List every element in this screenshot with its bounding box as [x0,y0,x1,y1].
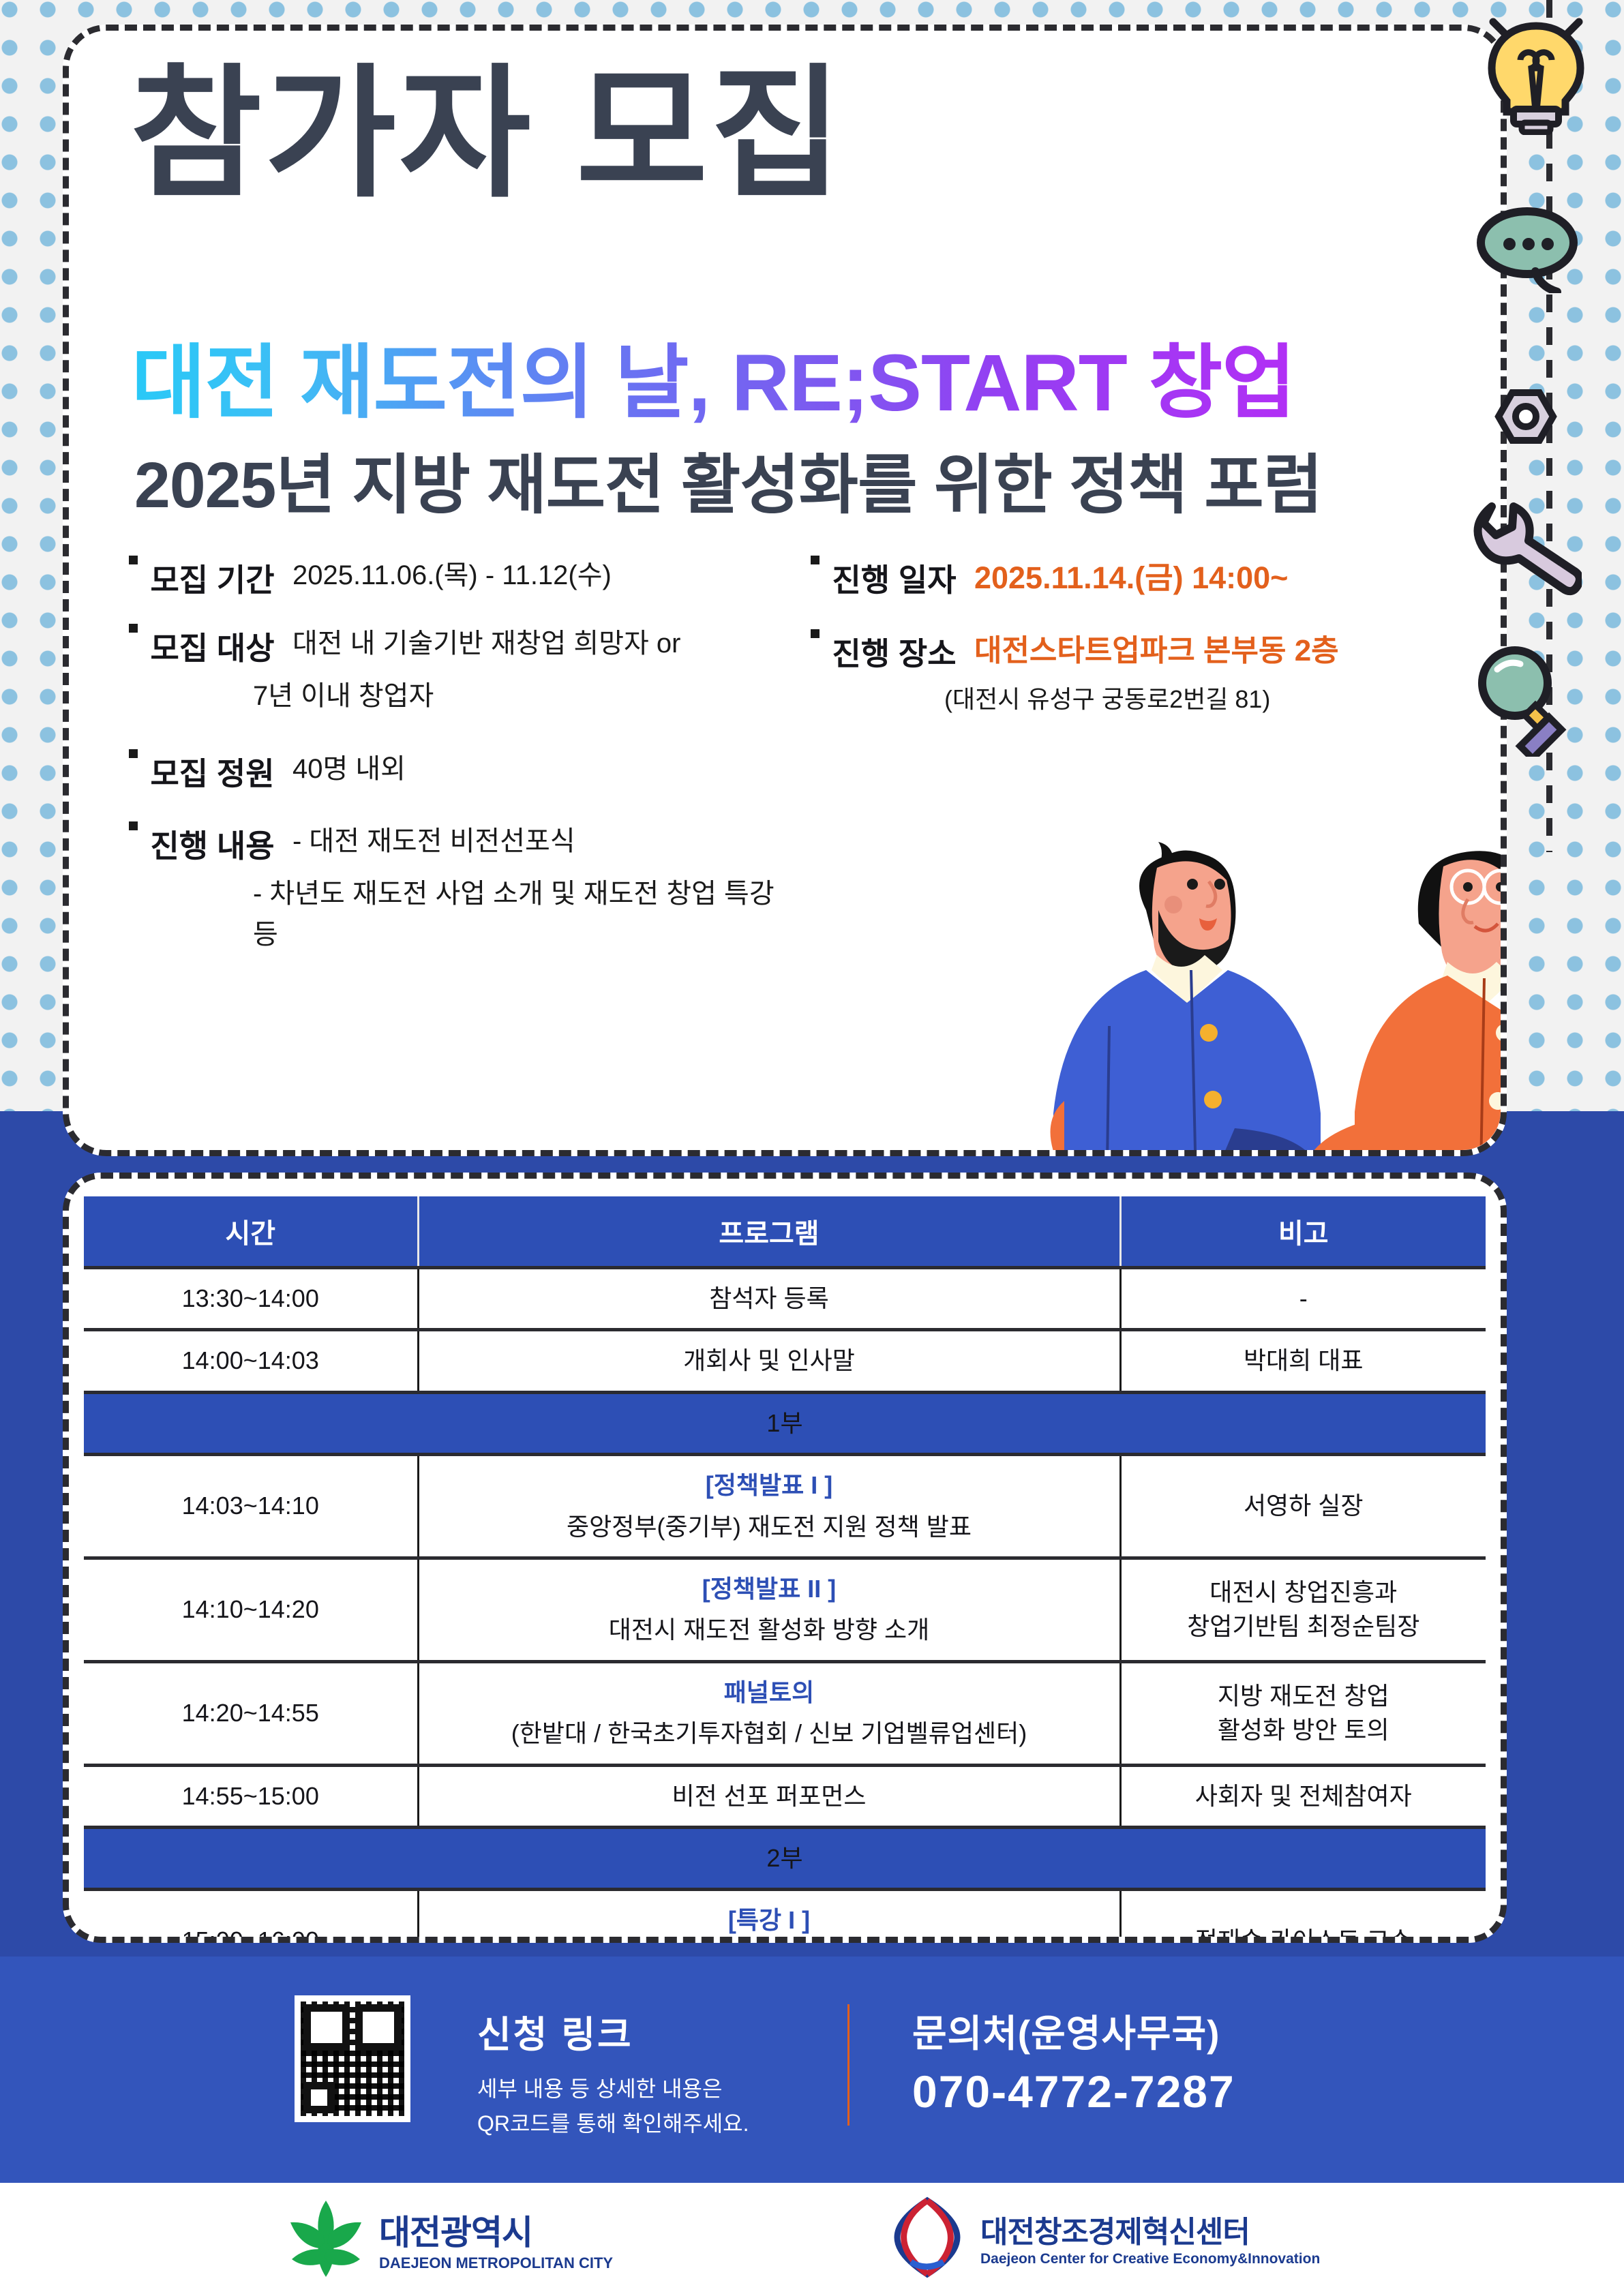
cell-program: 비전 선포 퍼포먼스 [418,1765,1120,1827]
footer-band [0,1958,1624,2183]
cell-note: 서영하 실장 [1120,1455,1486,1558]
hex-nut-icon [1494,389,1557,448]
info-row-recruit-target: 모집 대상 대전 내 기술기반 재창업 희망자 or [129,624,797,669]
logo2-en: Daejeon Center for Creative Economy&Inno… [980,2251,1320,2267]
cell-note: 사회자 및 전체참여자 [1120,1765,1486,1827]
info-label: 모집 기간 [150,556,274,601]
program-desc: 대전시 재도전 활성화 방향 소개 [426,1613,1113,1647]
daejeon-city-logo: 대전광역시 DAEJEON METROPOLITAN CITY [285,2198,613,2280]
illustration-man [1051,842,1323,1150]
bullet-icon [129,749,138,758]
cell-note: 대전시 창업진흥과창업기반팀 최정순팀장 [1120,1558,1486,1661]
logo1-kr: 대전광역시 [379,2205,613,2254]
schedule-table: 시간 프로그램 비고 13:30~14:00참석자 등록-14:00~14:03… [84,1196,1486,1943]
program-desc: 참석자 등록 [426,1282,1113,1316]
cell-time: 14:10~14:20 [84,1558,418,1661]
program-tag: [특강 I ] [426,1903,1113,1937]
cell-note: 정재승 카이스트 교수 [1120,1890,1486,1943]
info-value: 대전스타트업파크 본부동 2층 [974,629,1339,673]
program-desc: (한밭대 / 한국초기투자협회 / 신보 기업벨류업센터) [426,1717,1113,1751]
qr-code-icon[interactable] [295,1995,410,2122]
cell-note: 지방 재도전 창업활성화 방안 토의 [1120,1661,1486,1765]
info-row-program-content: 진행 내용 - 대전 재도전 비전선포식 [129,821,797,866]
table-row: 14:03~14:10[정책발표 I ]중앙정부(중기부) 재도전 지원 정책 … [84,1455,1486,1558]
cell-program: [특강 I ](뇌과학, 스타트업 리더의 의사결정을 들여다보다.) [418,1890,1120,1943]
program-desc: 개회사 및 인사말 [426,1344,1113,1378]
info-value: 대전 내 기술기반 재창업 희망자 or [292,624,681,663]
schedule-panel: 시간 프로그램 비고 13:30~14:00참석자 등록-14:00~14:03… [63,1173,1507,1943]
table-header-row: 시간 프로그램 비고 [84,1196,1486,1268]
dcce-logo: 대전창조경제혁신센터 Daejeon Center for Creative E… [886,2196,1320,2278]
table-row: 15:00~16:00[특강 I ](뇌과학, 스타트업 리더의 의사결정을 들… [84,1890,1486,1943]
application-link-block: 신청 링크 세부 내용 등 상세한 내용은 QR코드를 통해 확인해주세요. [477,2004,749,2141]
table-row: 14:00~14:03개회사 및 인사말박대희 대표 [84,1330,1486,1392]
page-tertiary-title: 2025년 지방 재도전 활성화를 위한 정책 포럼 [134,433,1322,526]
cell-time: 14:03~14:10 [84,1455,418,1558]
table-section-label: 2부 [84,1827,1486,1889]
wrench-icon [1466,494,1582,600]
info-value: - 대전 재도전 비전선포식 [292,821,575,861]
bullet-icon [129,556,138,564]
bullet-icon [811,556,819,564]
cell-time: 13:30~14:00 [84,1268,418,1330]
table-row: 14:20~14:55패널토의(한밭대 / 한국초기투자협회 / 신보 기업벨류… [84,1661,1486,1765]
table-row: 13:30~14:00참석자 등록- [84,1268,1486,1330]
cell-program: 패널토의(한밭대 / 한국초기투자협회 / 신보 기업벨류업센터) [418,1661,1120,1765]
info-row-venue: 진행 장소 대전스타트업파크 본부동 2층 [811,629,1465,674]
contact-title: 문의처(운영사무국) [912,2003,1235,2057]
info-label: 진행 장소 [832,629,956,674]
illustration-woman [1303,851,1501,1150]
info-value-line2: - 차년도 재도전 사업 소개 및 재도전 창업 특강 등 [253,873,797,955]
lightbulb-icon [1478,12,1594,138]
page-subtitle: 대전 재도전의 날, RE;START 창업 [132,317,1295,434]
logo2-kr: 대전창조경제혁신센터 [980,2207,1320,2251]
magnifier-icon [1473,641,1595,760]
link-desc-line1: 세부 내용 등 상세한 내용은 [477,2072,749,2106]
bullet-icon [129,821,138,830]
cell-time: 15:00~16:00 [84,1890,418,1943]
contact-block: 문의처(운영사무국) 070-4772-7287 [912,2003,1235,2117]
cell-time: 14:20~14:55 [84,1661,418,1765]
info-value: 40명 내외 [292,749,406,789]
info-label: 모집 대상 [150,624,274,669]
handshake-illustration [942,828,1501,1150]
cell-note: 박대희 대표 [1120,1330,1486,1392]
info-label: 진행 일자 [832,556,956,601]
chat-bubble-icon [1473,205,1589,297]
table-section-row: 2부 [84,1827,1486,1889]
dcce-emblem-icon [886,2196,968,2278]
info-row-event-date: 진행 일자 2025.11.14.(금) 14:00~ [811,556,1465,601]
column-header-note: 비고 [1120,1196,1486,1268]
info-value-line2: 7년 이내 창업자 [253,676,797,716]
info-row-recruit-period: 모집 기간 2025.11.06.(목) - 11.12(수) [129,556,797,601]
hero-card: 참가자 모집 대전 재도전의 날, RE;START 창업 2025년 지방 재… [63,25,1507,1156]
table-section-label: 1부 [84,1392,1486,1454]
contact-phone[interactable]: 070-4772-7287 [912,2066,1235,2117]
footer-divider [847,2004,849,2126]
cell-note: - [1120,1268,1486,1330]
info-row-capacity: 모집 정원 40명 내외 [129,749,797,794]
info-value-address: (대전시 유성구 궁동로2번길 81) [944,681,1465,718]
program-tag: [정책발표 I ] [426,1468,1113,1502]
info-value: 2025.11.14.(금) 14:00~ [974,556,1289,600]
link-desc-line2: QR코드를 통해 확인해주세요. [477,2106,749,2141]
program-tag: [정책발표 II ] [426,1572,1113,1606]
table-row: 14:55~15:00비전 선포 퍼포먼스사회자 및 전체참여자 [84,1765,1486,1827]
logo1-en: DAEJEON METROPOLITAN CITY [379,2254,613,2272]
program-desc: 비전 선포 퍼포먼스 [426,1779,1113,1813]
cell-time: 14:00~14:03 [84,1330,418,1392]
bullet-icon [811,629,819,638]
cell-program: [정책발표 I ]중앙정부(중기부) 재도전 지원 정책 발표 [418,1455,1120,1558]
table-section-row: 1부 [84,1392,1486,1454]
info-column-right: 진행 일자 2025.11.14.(금) 14:00~ 진행 장소 대전스타트업… [811,556,1465,718]
info-label: 모집 정원 [150,749,274,794]
program-tag: 패널토의 [426,1676,1113,1710]
daejeon-flower-icon [285,2198,367,2280]
cell-time: 14:55~15:00 [84,1765,418,1827]
column-header-time: 시간 [84,1196,418,1268]
cell-program: 참석자 등록 [418,1268,1120,1330]
poster-root: 참가자 모집 대전 재도전의 날, RE;START 창업 2025년 지방 재… [0,0,1624,2296]
link-title: 신청 링크 [477,2004,749,2058]
info-label: 진행 내용 [150,821,274,866]
page-title: 참가자 모집 [130,59,845,210]
bullet-icon [129,624,138,633]
table-row: 14:10~14:20[정책발표 II ]대전시 재도전 활성화 방향 소개대전… [84,1558,1486,1661]
logo-strip: 대전광역시 DAEJEON METROPOLITAN CITY 대전창조경제혁신… [0,2183,1624,2296]
cell-program: [정책발표 II ]대전시 재도전 활성화 방향 소개 [418,1558,1120,1661]
schedule-table-body: 13:30~14:00참석자 등록-14:00~14:03개회사 및 인사말박대… [84,1268,1486,1944]
cell-program: 개회사 및 인사말 [418,1330,1120,1392]
program-desc: 중앙정부(중기부) 재도전 지원 정책 발표 [426,1510,1113,1544]
info-column-left: 모집 기간 2025.11.06.(목) - 11.12(수) 모집 대상 대전… [129,556,797,955]
column-header-program: 프로그램 [418,1196,1120,1268]
info-value: 2025.11.06.(목) - 11.12(수) [292,556,612,595]
